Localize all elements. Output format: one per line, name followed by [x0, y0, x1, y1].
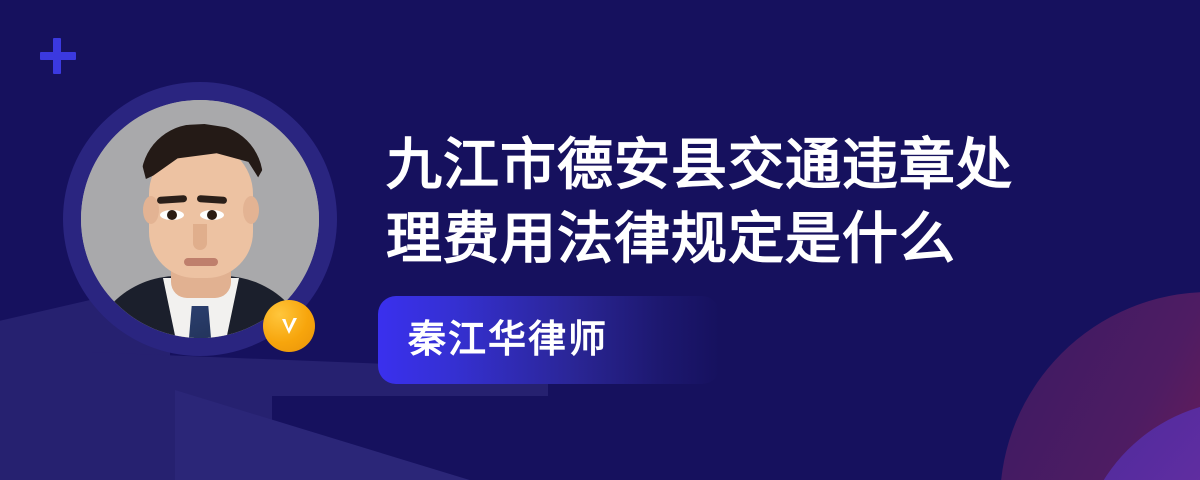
- portrait-mouth: [184, 258, 218, 266]
- avatar: [63, 82, 337, 356]
- page-title: 九江市德安县交通违章处 理费用法律规定是什么: [386, 128, 1086, 276]
- portrait-eye-right: [200, 210, 224, 220]
- portrait-eye-left: [160, 210, 184, 220]
- lawyer-qa-banner: 九江市德安县交通违章处 理费用法律规定是什么 秦江华律师: [0, 0, 1200, 480]
- author-name: 秦江华律师: [408, 321, 608, 359]
- author-badge: 秦江华律师: [378, 296, 720, 384]
- verified-badge-icon: [263, 300, 315, 352]
- portrait-ear-right: [243, 196, 259, 224]
- plus-icon: [40, 38, 76, 74]
- portrait-nose: [193, 224, 207, 250]
